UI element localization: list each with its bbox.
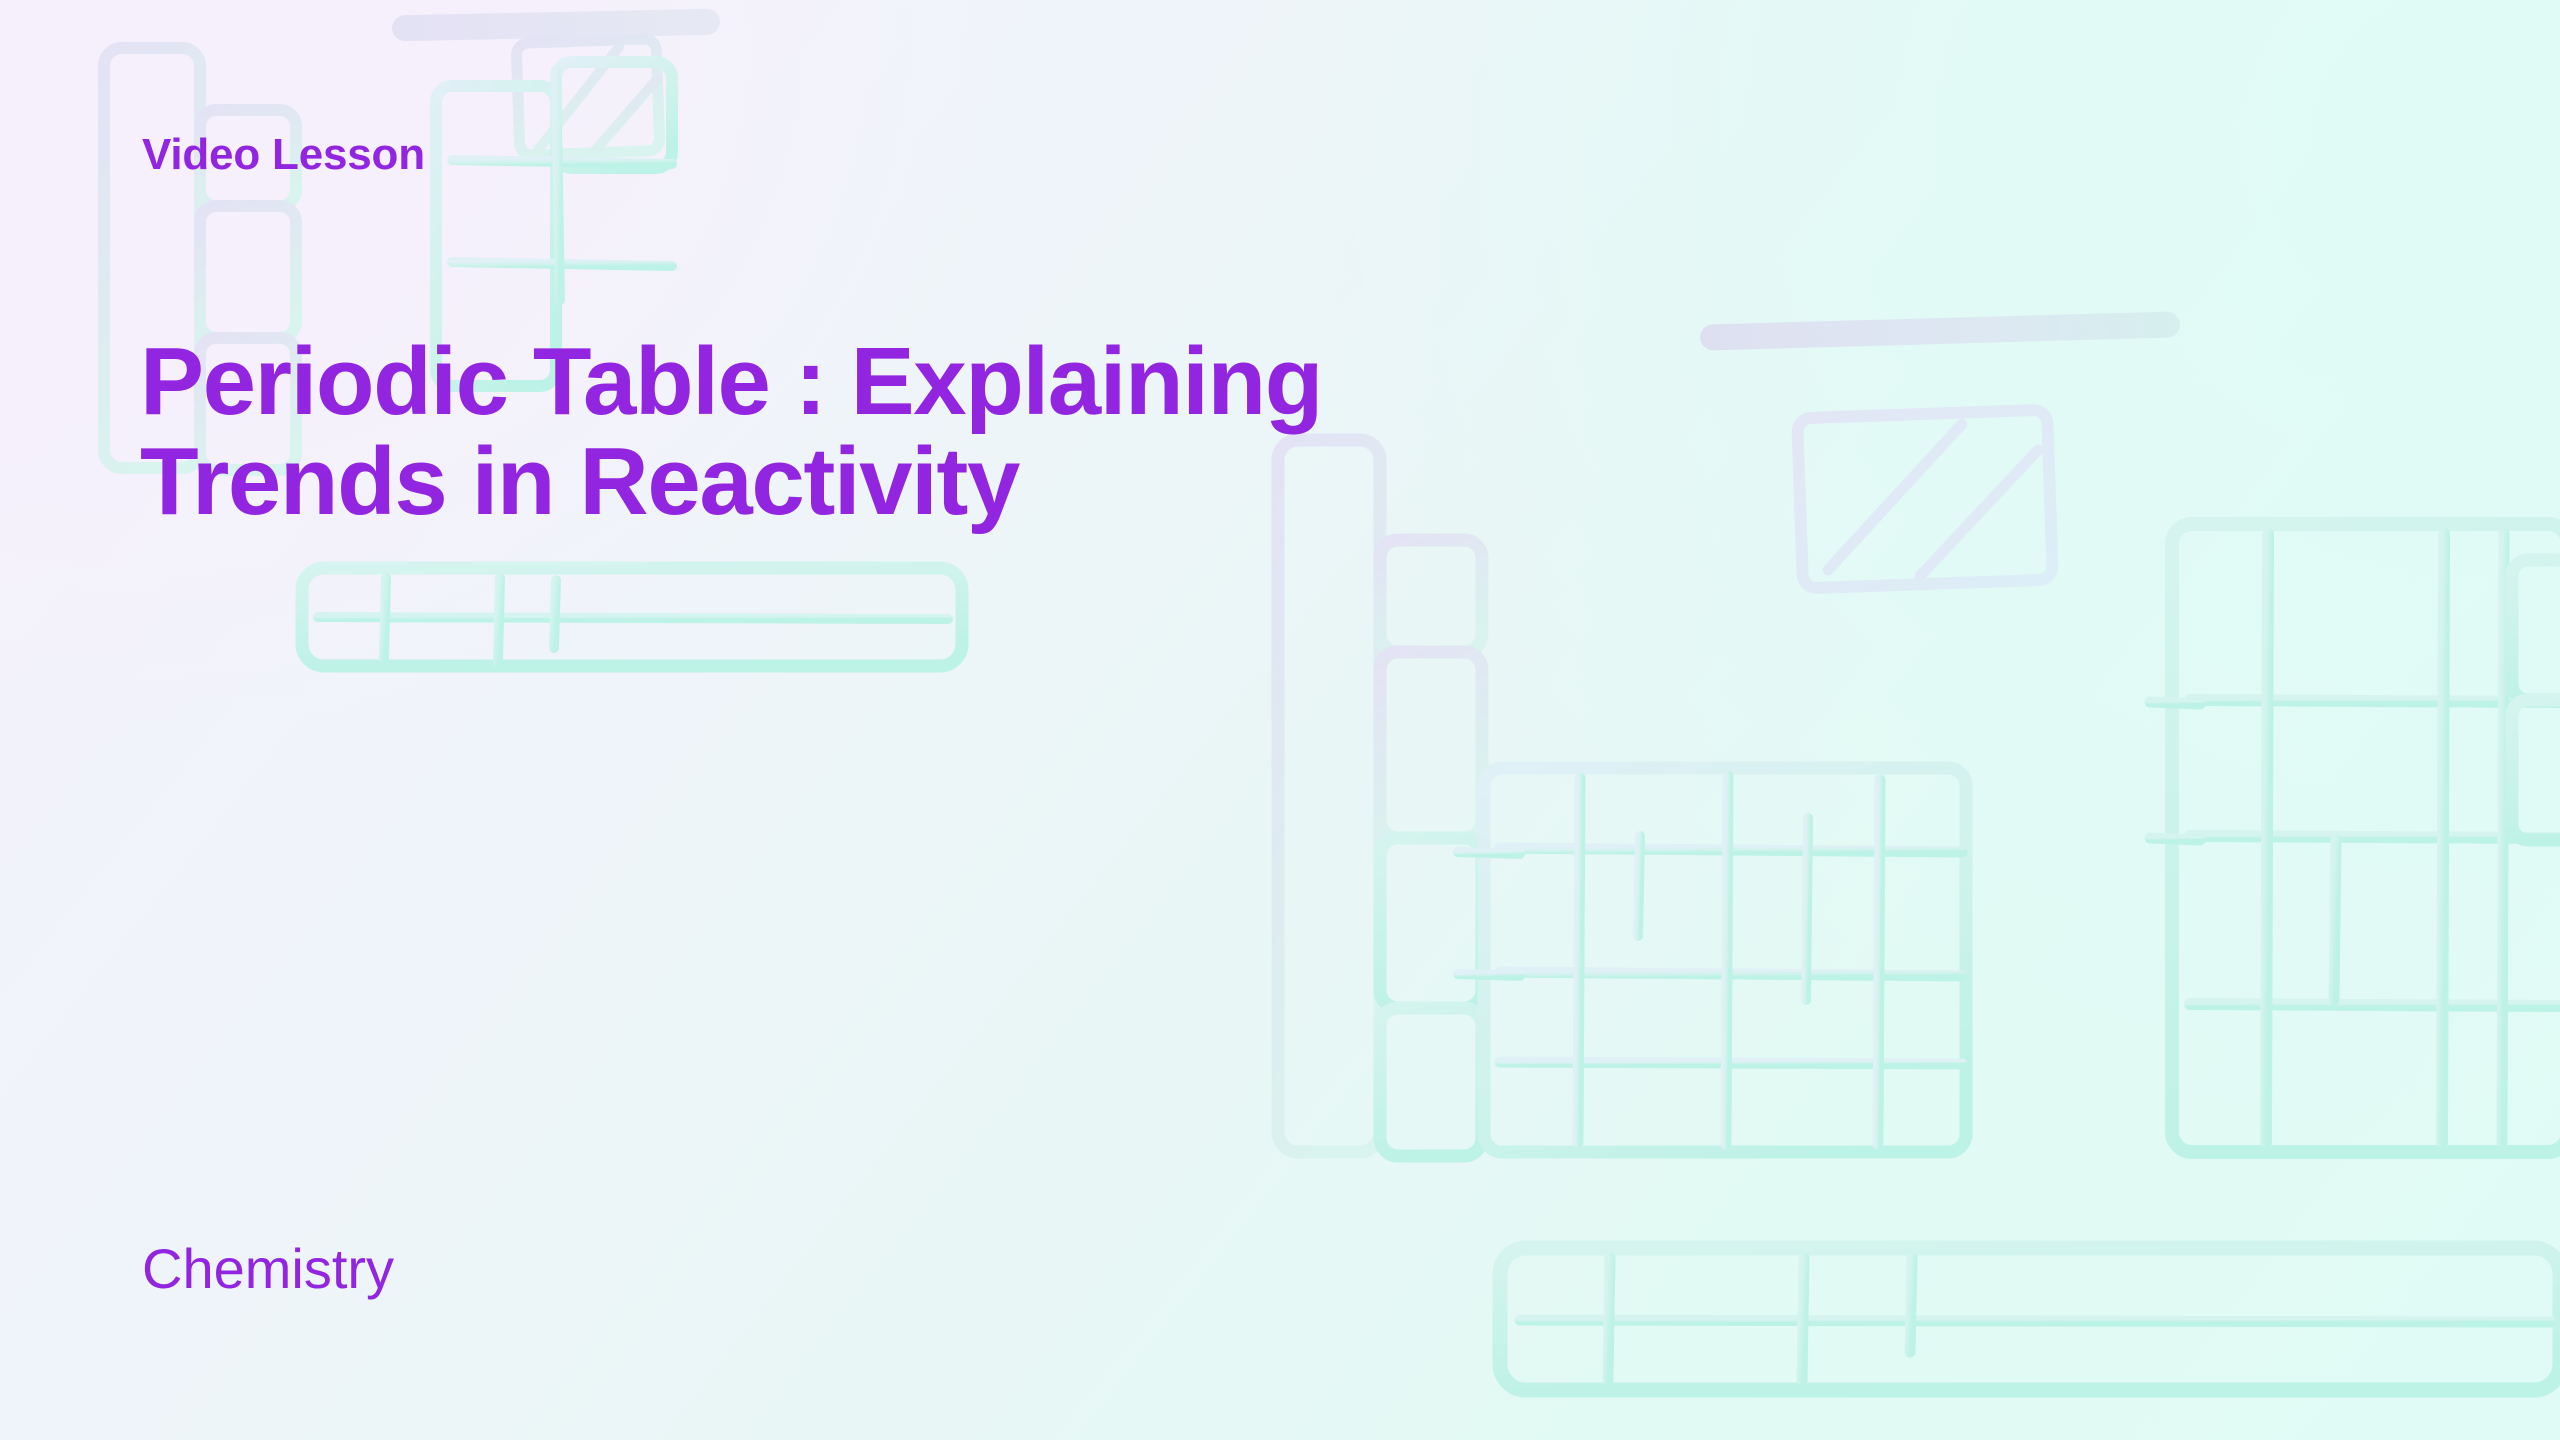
title-card-slide: Video Lesson Periodic Table : Explaining… xyxy=(0,0,2560,1440)
page-title: Periodic Table : Explaining Trends in Re… xyxy=(140,332,1780,532)
slide-content: Video Lesson Periodic Table : Explaining… xyxy=(0,0,2560,1440)
subject-label: Chemistry xyxy=(142,1241,394,1297)
eyebrow-label: Video Lesson xyxy=(142,133,425,177)
page-title-line-2: Trends in Reactivity xyxy=(140,432,1780,532)
page-title-line-1: Periodic Table : Explaining xyxy=(140,332,1780,432)
